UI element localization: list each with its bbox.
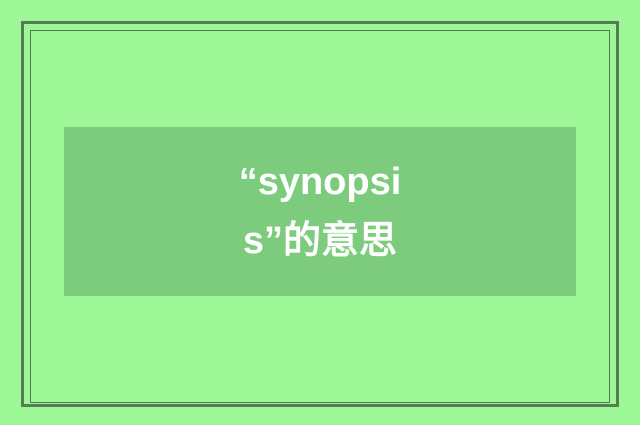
- page-canvas: “synopsis”的意思: [0, 0, 640, 425]
- title-card: “synopsis”的意思: [64, 127, 576, 296]
- page-title: “synopsis”的意思: [229, 153, 411, 271]
